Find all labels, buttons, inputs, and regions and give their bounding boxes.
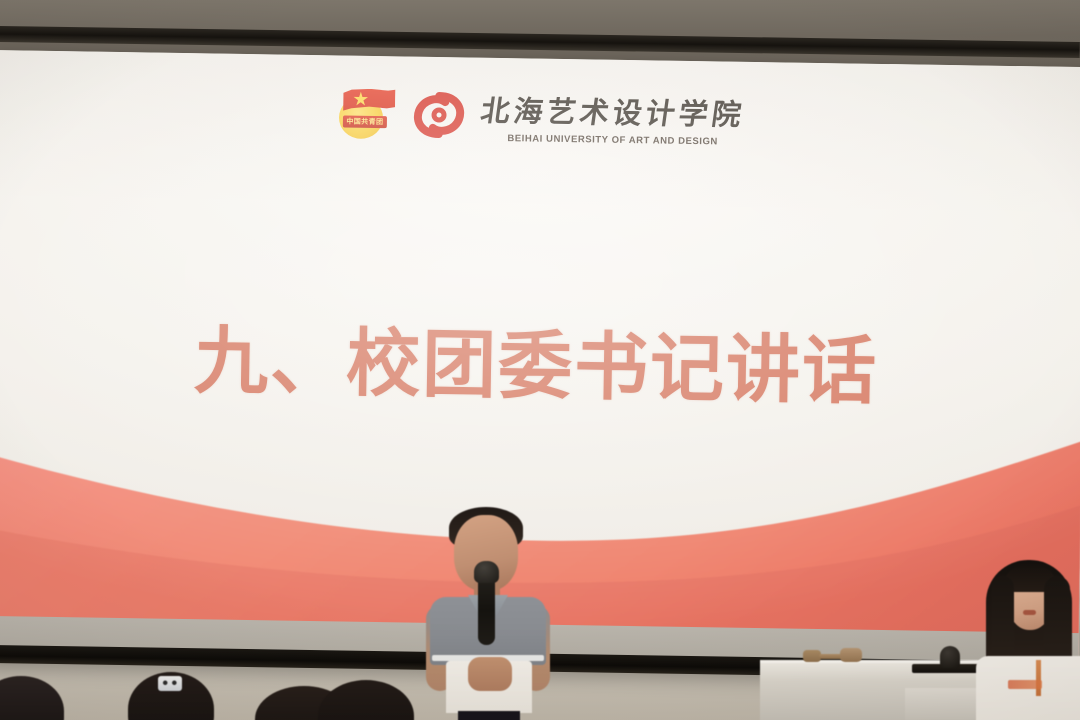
- speaker-figure: [418, 505, 558, 720]
- seated-woman-figure: [980, 560, 1080, 720]
- hair-clip-pattern: [158, 676, 182, 691]
- gavel-sound-block: [840, 648, 862, 662]
- emblem-band: 中国共青团: [343, 115, 387, 128]
- woman-shirt-print: [1008, 680, 1042, 689]
- speaker-hands: [468, 657, 512, 691]
- communist-youth-league-emblem-icon: 中国共青团: [335, 86, 398, 141]
- presentation-photo: 中国共青团 北海艺术设计学院 BEIHAI UNIVERSITY OF ART …: [0, 0, 1080, 720]
- woman-lanyard: [1036, 660, 1041, 696]
- speaker-trousers: [458, 711, 520, 720]
- desk-microphone-icon: [940, 646, 960, 668]
- slide-title: 九、校团委书记讲话: [0, 298, 1080, 422]
- microphone-head: [474, 561, 499, 583]
- university-wordmark: 北海艺术设计学院 BEIHAI UNIVERSITY OF ART AND DE…: [481, 88, 746, 148]
- woman-lips: [1023, 610, 1036, 615]
- emblem-band-text: 中国共青团: [343, 115, 387, 128]
- wordmark-chinese: 北海艺术设计学院: [478, 88, 748, 134]
- beihai-spiral-logo-icon: [411, 90, 468, 141]
- hair-clip-icon: [158, 676, 182, 691]
